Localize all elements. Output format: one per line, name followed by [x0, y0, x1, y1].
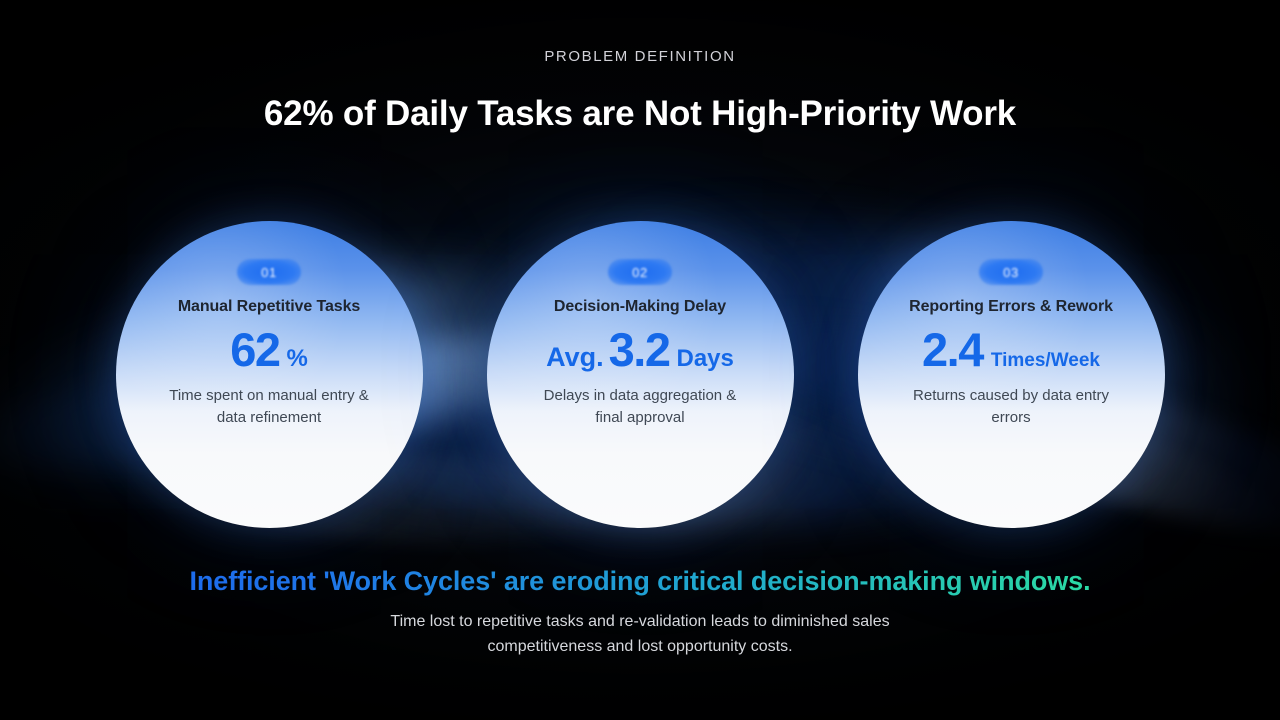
card-stat-suffix: Days: [676, 347, 733, 371]
card-index-label: 01: [261, 265, 277, 280]
stat-circle-group: 01 Manual Repetitive Tasks 62 % Time spe…: [0, 221, 1280, 528]
card-description: Delays in data aggregation & final appro…: [540, 385, 740, 429]
conclusion-support-line-2: competitiveness and lost opportunity cos…: [0, 634, 1280, 659]
card-index-badge: 02: [608, 259, 672, 285]
slide-headline: 62% of Daily Tasks are Not High-Priority…: [0, 94, 1280, 134]
card-title: Manual Repetitive Tasks: [178, 298, 360, 316]
stat-circle-card[interactable]: 01 Manual Repetitive Tasks 62 % Time spe…: [116, 221, 423, 528]
card-stat-prefix: Avg.: [546, 344, 604, 371]
card-description: Returns caused by data entry errors: [911, 385, 1111, 429]
card-stat-value: 3.2: [609, 326, 670, 373]
stat-circle-card[interactable]: 02 Decision-Making Delay Avg. 3.2 Days D…: [487, 221, 794, 528]
card-title: Decision-Making Delay: [554, 298, 726, 316]
card-index-badge: 01: [237, 259, 301, 285]
conclusion-support-line-1: Time lost to repetitive tasks and re-val…: [0, 609, 1280, 634]
card-title: Reporting Errors & Rework: [909, 298, 1113, 316]
card-stat-value: 62: [230, 326, 279, 373]
card-index-badge: 03: [979, 259, 1043, 285]
card-stat: Avg. 3.2 Days: [546, 326, 734, 373]
card-description: Time spent on manual entry & data refine…: [169, 385, 369, 429]
card-index-label: 03: [1003, 265, 1019, 280]
slide-eyebrow: PROBLEM DEFINITION: [0, 48, 1280, 65]
card-index-label: 02: [632, 265, 648, 280]
presentation-slide: PROBLEM DEFINITION 62% of Daily Tasks ar…: [0, 0, 1280, 720]
card-stat-value: 2.4: [922, 326, 983, 373]
card-stat: 2.4 Times/Week: [922, 326, 1100, 373]
stat-circle-card[interactable]: 03 Reporting Errors & Rework 2.4 Times/W…: [858, 221, 1165, 528]
card-stat-suffix: %: [286, 347, 307, 371]
card-stat: 62 %: [230, 326, 308, 373]
card-stat-suffix: Times/Week: [991, 351, 1100, 370]
conclusion-support-text: Time lost to repetitive tasks and re-val…: [0, 609, 1280, 660]
conclusion-headline: Inefficient 'Work Cycles' are eroding cr…: [0, 566, 1280, 597]
